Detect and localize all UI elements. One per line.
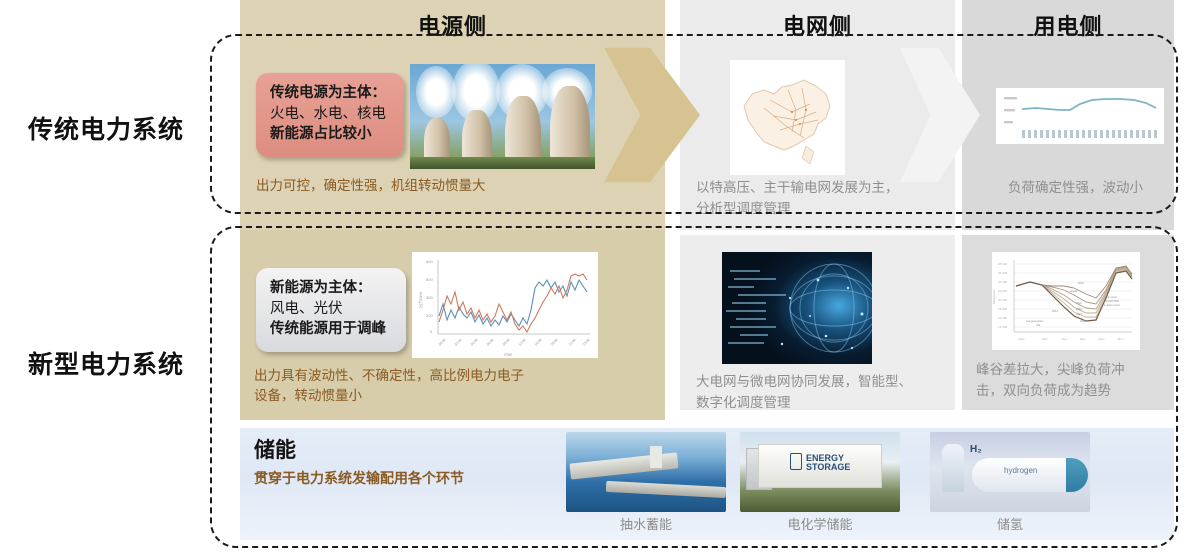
svg-text:6pm: 6pm xyxy=(1118,337,1124,341)
callout-line-3: 传统能源用于调峰 xyxy=(270,319,392,340)
load-caption-traditional: 负荷确定性强，波动小 xyxy=(1008,178,1178,199)
storage-logo-line-2: STORAGE xyxy=(806,463,850,472)
grid-caption-modern: 大电网与微电网协同发展，智能型、 数字化调度管理 xyxy=(696,372,946,414)
svg-text:overgeneration: overgeneration xyxy=(1026,319,1044,323)
svg-text:actual: actual xyxy=(1070,289,1077,293)
svg-text:6am: 6am xyxy=(1062,337,1068,341)
svg-text:3am: 3am xyxy=(1042,337,1048,341)
svg-text:28,000: 28,000 xyxy=(998,262,1008,266)
grid-caption-line-1: 以特高压、主干输电网发展为主， xyxy=(696,178,946,199)
storage-item-label: 电化学储能 xyxy=(740,514,900,533)
column-title-load: 用电侧 xyxy=(962,8,1174,42)
svg-text:Megawatts: Megawatts xyxy=(992,289,996,304)
svg-text:20,000: 20,000 xyxy=(998,298,1008,302)
generation-callout-modern: 新能源为主体： 风电、光伏 传统能源用于调峰 xyxy=(256,268,406,352)
battery-icon xyxy=(790,453,802,470)
storage-item-pumped-hydro: 抽水蓄能 xyxy=(566,432,726,533)
svg-text:200: 200 xyxy=(426,313,433,318)
svg-text:18,000: 18,000 xyxy=(998,307,1008,311)
generation-callout-traditional: 传统电源为主体： 火电、水电、核电 新能源占比较小 xyxy=(256,73,404,157)
diagram-canvas: 电源侧 电网侧 用电侧 传统电力系统 新型电力系统 传统电源为主体： 火电、水电… xyxy=(0,0,1198,554)
grid-caption-traditional: 以特高压、主干输电网发展为主， 分析型调度管理 xyxy=(696,178,946,220)
load-caption-line-2: 击，双向负荷成为趋势 xyxy=(976,381,1166,402)
cooling-towers-photo xyxy=(410,64,595,169)
wind-solar-volatility-chart: 800600 4002000 出力/MW 00:00 02:00 04:00 0… xyxy=(412,252,598,358)
generation-caption-traditional: 出力可控，确定性强，机组转动惯量大 xyxy=(256,176,646,196)
svg-text:9am: 9am xyxy=(1080,337,1086,341)
load-caption-line-1: 峰谷差拉大，尖峰负荷冲 xyxy=(976,360,1166,381)
pumped-hydro-photo xyxy=(566,432,726,512)
svg-text:出力/MW: 出力/MW xyxy=(417,292,423,308)
storage-item-label: 储氢 xyxy=(930,514,1090,533)
svg-text:24,000: 24,000 xyxy=(998,280,1008,284)
storage-subtitle: 贯穿于电力系统发输配用各个环节 xyxy=(254,468,464,488)
hydrogen-storage-photo: H₂ hydrogen xyxy=(930,432,1090,512)
storage-item-label: 抽水蓄能 xyxy=(566,514,726,533)
row-label-traditional-system: 传统电力系统 xyxy=(8,110,204,146)
svg-text:26,000: 26,000 xyxy=(998,271,1008,275)
callout-line-1: 传统电源为主体： xyxy=(270,83,390,104)
svg-text:400: 400 xyxy=(426,295,433,300)
svg-text:16,000: 16,000 xyxy=(998,316,1008,320)
svg-text:时间: 时间 xyxy=(504,352,512,357)
svg-text:2014: 2014 xyxy=(1052,309,1058,313)
svg-text:12pm: 12pm xyxy=(1098,337,1106,341)
svg-text:in three hours: in three hours xyxy=(1104,303,1121,307)
row-label-modern-system: 新型电力系统 xyxy=(8,345,204,381)
svg-text:14,000: 14,000 xyxy=(998,325,1008,329)
svg-text:2017: 2017 xyxy=(1076,312,1082,316)
callout-line-3: 新能源占比较小 xyxy=(270,124,390,145)
svg-text:800: 800 xyxy=(426,259,433,264)
callout-line-2: 风电、光伏 xyxy=(270,299,392,320)
duck-curve-chart: 28,00026,00024,000 22,00020,00018,000 16… xyxy=(992,252,1140,350)
grid-caption-line-2: 数字化调度管理 xyxy=(696,393,946,414)
svg-text:22,000: 22,000 xyxy=(998,289,1008,293)
svg-text:~13,000 MW: ~13,000 MW xyxy=(1104,299,1119,303)
battery-container-photo: ENERGY STORAGE xyxy=(740,432,900,512)
grid-caption-line-2: 分析型调度管理 xyxy=(696,199,946,220)
svg-text:ramp need: ramp need xyxy=(1104,295,1117,299)
storage-item-electrochemical: ENERGY STORAGE 电化学储能 xyxy=(740,432,900,533)
callout-line-2: 火电、水电、核电 xyxy=(270,104,390,125)
svg-text:2016: 2016 xyxy=(1076,307,1082,311)
generation-caption-line-2: 设备，转动惯量小 xyxy=(254,386,584,406)
hydrogen-label: hydrogen xyxy=(1004,466,1037,475)
digital-grid-photo xyxy=(722,252,872,364)
grid-caption-line-1: 大电网与微电网协同发展，智能型、 xyxy=(696,372,946,393)
callout-line-1: 新能源为主体： xyxy=(270,278,392,299)
h2-label: H₂ xyxy=(970,444,982,455)
svg-text:risk: risk xyxy=(1036,323,1041,327)
china-grid-map xyxy=(730,60,845,175)
load-caption-modern: 峰谷差拉大，尖峰负荷冲 击，双向负荷成为趋势 xyxy=(976,360,1166,402)
generation-caption-line-1: 出力具有波动性、不确定性，高比例电力电子 xyxy=(254,366,584,386)
generation-caption-modern: 出力具有波动性、不确定性，高比例电力电子 设备，转动惯量小 xyxy=(254,366,584,407)
storage-item-hydrogen: H₂ hydrogen 储氢 xyxy=(930,432,1090,533)
column-title-generation: 电源侧 xyxy=(240,8,665,42)
storage-title: 储能 xyxy=(254,434,296,464)
svg-text:2012: 2012 xyxy=(1078,281,1084,285)
svg-text:2020: 2020 xyxy=(1080,319,1086,323)
svg-text:2015: 2015 xyxy=(1076,301,1082,305)
column-title-grid: 电网侧 xyxy=(680,8,955,42)
svg-text:12am: 12am xyxy=(1018,337,1026,341)
svg-text:600: 600 xyxy=(426,277,433,282)
flat-load-curve-chart xyxy=(996,88,1164,144)
